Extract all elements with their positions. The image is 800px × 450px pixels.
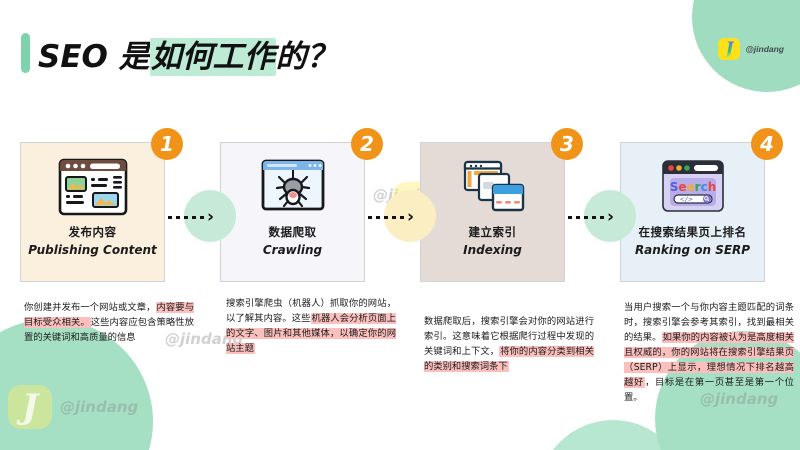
step-card-3[interactable]: 建立索引 Indexing xyxy=(420,142,565,282)
search-browser-icon: Search </> xyxy=(655,156,731,218)
arrow-head-icon: › xyxy=(207,209,214,226)
arrow-head-icon: › xyxy=(607,209,614,226)
brand[interactable]: J @jindang xyxy=(718,38,784,60)
arrow-head-icon: › xyxy=(407,209,414,226)
brand-logo-icon: J xyxy=(718,38,740,60)
step-card-4-title-en: Ranking on SERP xyxy=(635,243,750,257)
plain-text: 你创建并发布一个网站或文章， xyxy=(24,302,156,313)
svg-text:</>: </> xyxy=(680,196,693,204)
page-title-part-1: SEO xyxy=(38,39,119,75)
step-card-2[interactable]: 数据爬取 Crawling xyxy=(220,142,365,282)
arrow-dashed-line xyxy=(568,216,606,219)
step-card-3-title-en: Indexing xyxy=(463,243,522,257)
step-description-4: 当用户搜索一个与你内容主题匹配的词条时，搜索引擎会参考其索引，找到最相关的结果。… xyxy=(624,300,794,405)
page-title-part-2: 是 xyxy=(119,39,150,75)
step-card-1-title-cn: 发布内容 xyxy=(69,225,117,241)
stacked-windows-icon xyxy=(455,156,531,218)
step-description-1: 你创建并发布一个网站或文章，内容要与目标受众相关。这些内容应包含策略性放置的关键… xyxy=(24,300,194,345)
arrow-dashed-line xyxy=(368,216,406,219)
step-badge-2: 2 xyxy=(351,128,383,160)
step-card-3-title-cn: 建立索引 xyxy=(469,225,517,241)
plain-text: ，目标是在第一页甚至是第一个位置。 xyxy=(624,377,794,403)
step-card-1-title-en: Publishing Content xyxy=(28,243,157,257)
step-card-1[interactable]: 发布内容 Publishing Content xyxy=(20,142,165,282)
step-badge-4: 4 xyxy=(751,128,783,160)
step-description-3: 数据爬取后，搜索引擎会对你的网站进行索引。这意味着它根据爬行过程中发现的关键词和… xyxy=(424,314,594,374)
step-description-2: 搜索引擎爬虫（机器人）抓取你的网站，以了解其内容。这些机器人会分析页面上的文字、… xyxy=(226,296,396,356)
brand-logo-letter: J xyxy=(725,41,733,58)
step-badge-1: 1 xyxy=(151,128,183,160)
step-badge-3: 3 xyxy=(551,128,583,160)
step-arrow-2: › xyxy=(368,206,428,228)
step-arrow-3: › xyxy=(568,206,628,228)
page-title-part-3: 的？ xyxy=(276,39,338,75)
step-card-2-title-en: Crawling xyxy=(263,243,322,257)
arrow-dashed-line xyxy=(168,216,206,219)
browser-article-icon xyxy=(55,156,131,218)
header: SEO 是如何工作的？ J @jindang xyxy=(0,0,800,92)
spider-crawler-icon xyxy=(255,156,331,218)
steps-row: 发布内容 Publishing Content xyxy=(0,128,800,283)
title-accent-bar xyxy=(21,33,30,73)
brand-handle: @jindang xyxy=(745,44,784,54)
slide-root: SEO 是如何工作的？ J @jindang xyxy=(0,0,800,450)
step-card-2-title-cn: 数据爬取 xyxy=(269,225,317,241)
step-arrow-1: › xyxy=(168,206,228,228)
step-card-4-title-cn: 在搜索结果页上排名 xyxy=(639,225,747,241)
step-card-4[interactable]: Search </> 在搜索结果页上排名 Ranking on SERP xyxy=(620,142,765,282)
page-title-highlight: 如何工作 xyxy=(150,38,276,76)
page-title: SEO 是如何工作的？ xyxy=(38,31,338,76)
svg-text:Search: Search xyxy=(669,180,716,194)
